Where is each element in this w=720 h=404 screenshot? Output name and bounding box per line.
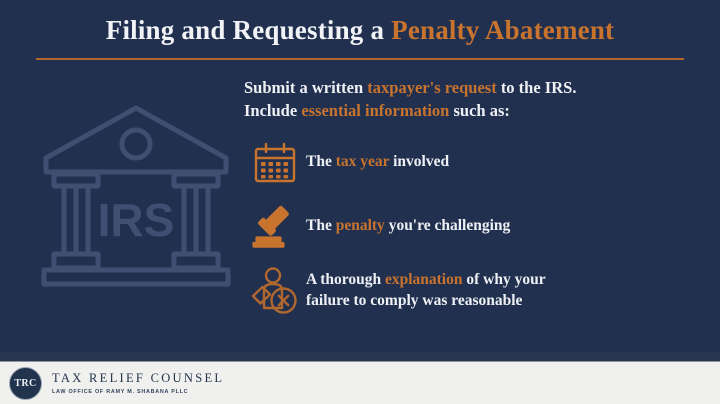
list-item: A thorough explanation of why yourfailur… xyxy=(244,265,710,317)
list-item: The tax year involved xyxy=(244,137,710,189)
lede-paragraph: Submit a written taxpayer's request to t… xyxy=(244,76,710,123)
gavel-icon xyxy=(244,201,306,253)
list-item-label: A thorough explanation of why yourfailur… xyxy=(306,270,546,312)
lede-line2-accent: essential information xyxy=(301,101,449,120)
list-item-label: The penalty you're challenging xyxy=(306,216,510,237)
bullet-2-part1: The xyxy=(306,217,336,234)
bullet-2-accent: penalty xyxy=(336,217,385,234)
lede-line2-part1: Include xyxy=(244,101,301,120)
lede-line1-part2: to the IRS. xyxy=(497,78,577,97)
slide-canvas: Filing and Requesting a Penalty Abatemen… xyxy=(0,0,720,404)
lede-line1-accent: taxpayer's request xyxy=(367,78,496,97)
firm-identity: TAX RELIEF COUNSEL LAW OFFICE OF RAMY M.… xyxy=(52,371,224,395)
footer-bar: TRC TAX RELIEF COUNSEL LAW OFFICE OF RAM… xyxy=(0,362,720,404)
bullet-1-part2: involved xyxy=(389,153,449,170)
requirements-list: The tax year involved xyxy=(244,137,710,317)
bullet-1-part1: The xyxy=(306,153,336,170)
content-column: Submit a written taxpayer's request to t… xyxy=(244,76,710,317)
page-title-text: Filing and Requesting a Penalty Abatemen… xyxy=(0,14,720,46)
page-title-plain: Filing and Requesting a xyxy=(106,15,391,45)
bullet-3-part2: of why your xyxy=(462,271,545,288)
bullet-3-part3: failure to comply was reasonable xyxy=(306,292,522,309)
firm-name: TAX RELIEF COUNSEL xyxy=(52,371,224,386)
bullet-3-part1: A thorough xyxy=(306,271,385,288)
trc-logo-badge: TRC xyxy=(9,367,42,400)
list-item: The penalty you're challenging xyxy=(244,201,710,253)
title-divider xyxy=(36,58,684,60)
irs-building-label: IRS xyxy=(98,194,175,246)
footer-accent-strip xyxy=(0,352,720,362)
bullet-1-accent: tax year xyxy=(336,153,390,170)
person-noncompliance-icon xyxy=(244,265,306,317)
list-item-label: The tax year involved xyxy=(306,152,449,173)
bullet-2-part2: you're challenging xyxy=(385,217,510,234)
lede-line1-part1: Submit a written xyxy=(244,78,367,97)
calendar-icon xyxy=(244,137,306,189)
firm-subtitle: LAW OFFICE OF RAMY M. SHABANA PLLC xyxy=(52,389,224,395)
bullet-3-accent: explanation xyxy=(385,271,463,288)
trc-logo-monogram: TRC xyxy=(14,378,36,389)
page-title-accent: Penalty Abatement xyxy=(391,15,614,45)
lede-line2-part2: such as: xyxy=(449,101,510,120)
irs-building-icon: IRS xyxy=(36,96,236,296)
page-title: Filing and Requesting a Penalty Abatemen… xyxy=(0,14,720,46)
